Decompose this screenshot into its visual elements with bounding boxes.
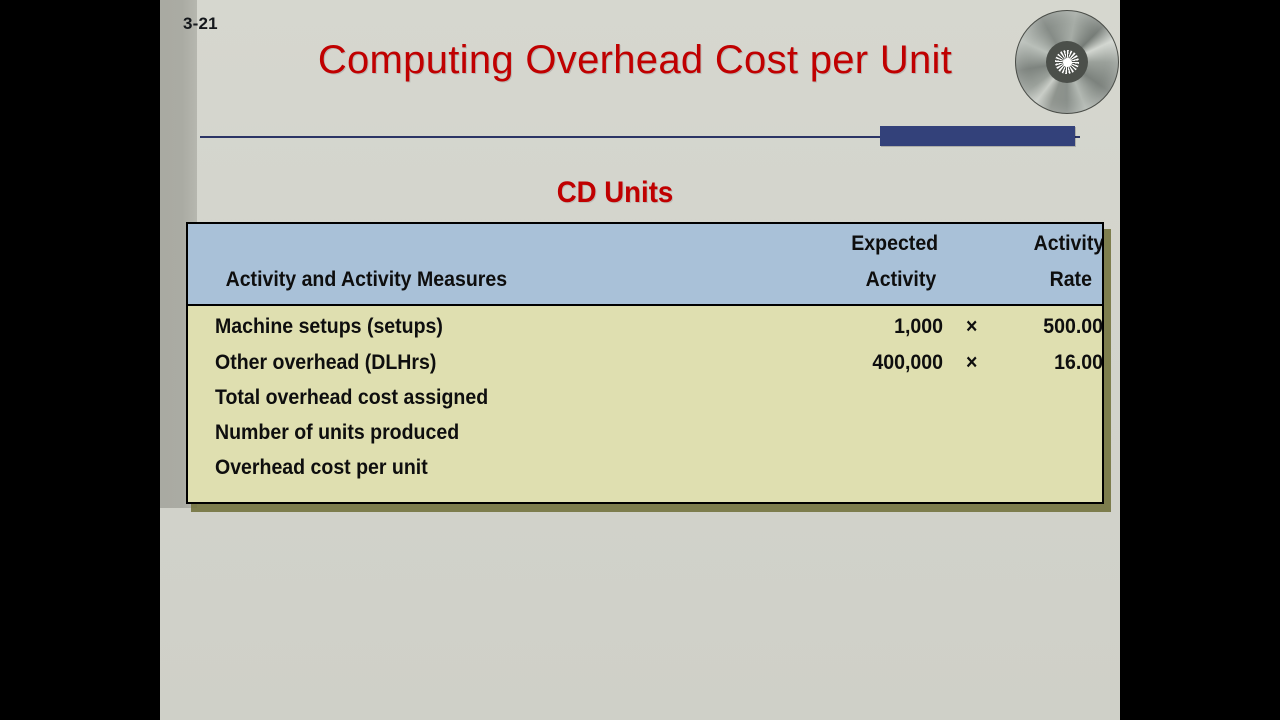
column-header-rate-line1: Activity [1034,232,1104,256]
compact-disc-icon [1015,10,1119,114]
row-1-expected-activity: 400,000 [799,351,943,375]
table-row: Machine setups (setups) [215,315,443,339]
column-header-expected-line1: Expected [851,232,938,256]
summary-1-amount: 200,000 [1009,421,1104,445]
column-header-activity-measures: Activity and Activity Measures [226,268,507,292]
summary-row: Overhead cost per unit [215,456,428,480]
compact-disc-center-hole-icon [1063,58,1072,67]
header-accent-block [880,126,1075,146]
letterbox-left [0,0,160,720]
letterbox-right [1120,0,1280,720]
summary-row: Number of units produced [215,421,459,445]
summary-0-amount: 6,900,000 [1009,386,1104,410]
row-0-amount: 500,000 [1009,315,1104,339]
table-header-row: Expected Activity Activity and Activity … [188,224,1102,306]
slide-number: 3-21 [183,14,218,34]
page-title: Computing Overhead Cost per Unit [220,38,1050,83]
section-subtitle: CD Units [500,176,730,210]
summary-row: Total overhead cost assigned [215,386,488,410]
row-0-expected-activity: 1,000 [799,315,943,339]
presentation-slide: 3-21 Computing Overhead Cost per Unit CD… [160,0,1120,720]
slide-stage: 3-21 Computing Overhead Cost per Unit CD… [0,0,1280,720]
summary-2-amount: 34.50 [1009,456,1104,480]
row-1-amount: 6,400,000 [1009,351,1104,375]
column-header-rate-line2: Rate [1050,268,1092,292]
column-header-expected-line2: Activity [866,268,937,292]
overhead-cost-table: Expected Activity Activity and Activity … [186,222,1104,504]
table-row: Other overhead (DLHrs) [215,351,436,375]
